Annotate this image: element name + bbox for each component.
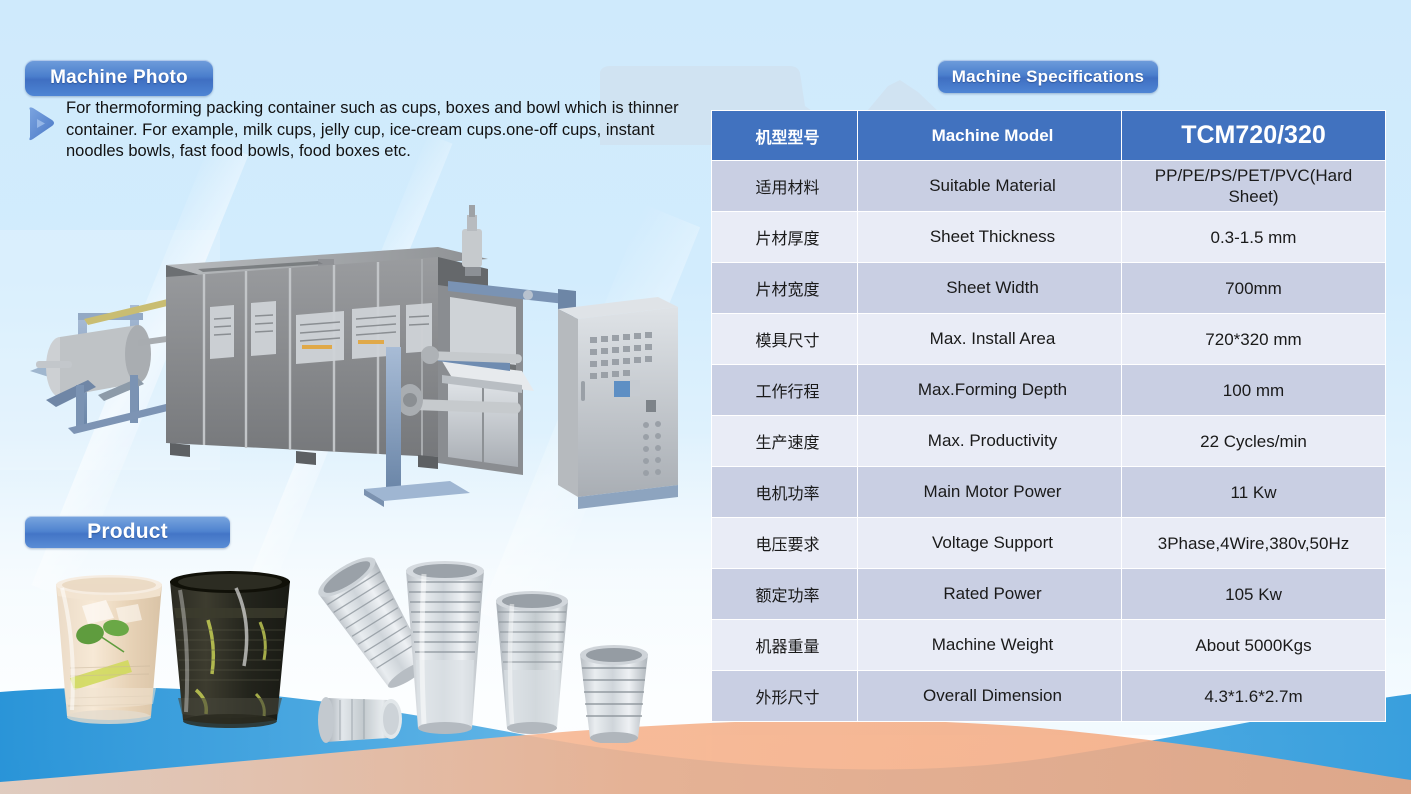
spec-cell-value: 4.3*1.6*2.7m xyxy=(1122,671,1386,722)
spec-table-row: 片材厚度Sheet Thickness0.3-1.5 mm xyxy=(712,212,1386,263)
spec-table-header-row: 机型型号 Machine Model TCM720/320 xyxy=(712,111,1386,161)
product-cup-lemon xyxy=(56,575,162,724)
spec-cell-value: 720*320 mm xyxy=(1122,314,1386,365)
spec-cell-value: 100 mm xyxy=(1122,365,1386,416)
spec-table-row: 片材宽度Sheet Width700mm xyxy=(712,263,1386,314)
spec-table-row: 工作行程Max.Forming Depth100 mm xyxy=(712,365,1386,416)
machine-photo-badge: Machine Photo xyxy=(25,60,213,96)
slide-canvas: Machine Photo For thermoforming packing … xyxy=(0,0,1411,794)
description-text: For thermoforming packing container such… xyxy=(66,98,696,163)
spec-table-row: 电压要求Voltage Support3Phase,4Wire,380v,50H… xyxy=(712,518,1386,569)
spec-cell-value: About 5000Kgs xyxy=(1122,620,1386,671)
spec-cell-cn: 电压要求 xyxy=(712,518,858,569)
spec-cell-value: 22 Cycles/min xyxy=(1122,416,1386,467)
machine-specifications-table: 机型型号 Machine Model TCM720/320 适用材料Suitab… xyxy=(711,110,1386,722)
spec-cell-en: Main Motor Power xyxy=(858,467,1122,518)
header-cell-en: Machine Model xyxy=(858,111,1122,161)
spec-cell-cn: 适用材料 xyxy=(712,161,858,212)
spec-table-row: 机器重量Machine WeightAbout 5000Kgs xyxy=(712,620,1386,671)
spec-cell-cn: 生产速度 xyxy=(712,416,858,467)
spec-cell-value: 11 Kw xyxy=(1122,467,1386,518)
spec-cell-en: Max. Productivity xyxy=(858,416,1122,467)
spec-cell-value: 105 Kw xyxy=(1122,569,1386,620)
play-arrow-icon xyxy=(24,104,58,144)
spec-cell-cn: 工作行程 xyxy=(712,365,858,416)
spec-cell-cn: 外形尺寸 xyxy=(712,671,858,722)
spec-cell-value: PP/PE/PS/PET/PVC(Hard Sheet) xyxy=(1122,161,1386,212)
description-block: For thermoforming packing container such… xyxy=(24,98,704,163)
spec-cell-cn: 片材厚度 xyxy=(712,212,858,263)
spec-cell-value: 3Phase,4Wire,380v,50Hz xyxy=(1122,518,1386,569)
spec-cell-cn: 额定功率 xyxy=(712,569,858,620)
spec-cell-en: Overall Dimension xyxy=(858,671,1122,722)
product-cup-stack-right xyxy=(496,591,568,734)
spec-cell-en: Sheet Thickness xyxy=(858,212,1122,263)
spec-cell-cn: 模具尺寸 xyxy=(712,314,858,365)
spec-cell-en: Rated Power xyxy=(858,569,1122,620)
spec-cell-cn: 片材宽度 xyxy=(712,263,858,314)
spec-cell-en: Max. Install Area xyxy=(858,314,1122,365)
product-badge: Product xyxy=(25,516,230,548)
spec-table-row: 额定功率Rated Power105 Kw xyxy=(712,569,1386,620)
spec-table-row: 电机功率Main Motor Power11 Kw xyxy=(712,467,1386,518)
spec-table-row: 外形尺寸Overall Dimension4.3*1.6*2.7m xyxy=(712,671,1386,722)
product-cup-lying xyxy=(318,697,402,743)
header-cell-cn: 机型型号 xyxy=(712,111,858,161)
spec-cell-value: 0.3-1.5 mm xyxy=(1122,212,1386,263)
product-cup-stack-short xyxy=(580,645,648,743)
spec-cell-en: Suitable Material xyxy=(858,161,1122,212)
spec-cell-en: Voltage Support xyxy=(858,518,1122,569)
spec-table-row: 模具尺寸Max. Install Area720*320 mm xyxy=(712,314,1386,365)
spec-cell-en: Machine Weight xyxy=(858,620,1122,671)
product-cup-stack-center xyxy=(406,561,484,734)
spec-table-head: 机型型号 Machine Model TCM720/320 xyxy=(712,111,1386,161)
spec-cell-en: Max.Forming Depth xyxy=(858,365,1122,416)
product-photos-image xyxy=(20,548,660,743)
spec-table-row: 生产速度Max. Productivity22 Cycles/min xyxy=(712,416,1386,467)
spec-table-body: 适用材料Suitable MaterialPP/PE/PS/PET/PVC(Ha… xyxy=(712,161,1386,722)
machine-photo-image xyxy=(18,185,708,510)
machine-control-cabinet xyxy=(558,297,678,509)
spec-table-row: 适用材料Suitable MaterialPP/PE/PS/PET/PVC(Ha… xyxy=(712,161,1386,212)
spec-cell-en: Sheet Width xyxy=(858,263,1122,314)
machine-specifications-badge: Machine Specifications xyxy=(938,60,1158,93)
header-cell-model: TCM720/320 xyxy=(1122,111,1386,161)
spec-cell-cn: 电机功率 xyxy=(712,467,858,518)
product-cup-tea xyxy=(170,571,290,728)
spec-cell-cn: 机器重量 xyxy=(712,620,858,671)
spec-cell-value: 700mm xyxy=(1122,263,1386,314)
